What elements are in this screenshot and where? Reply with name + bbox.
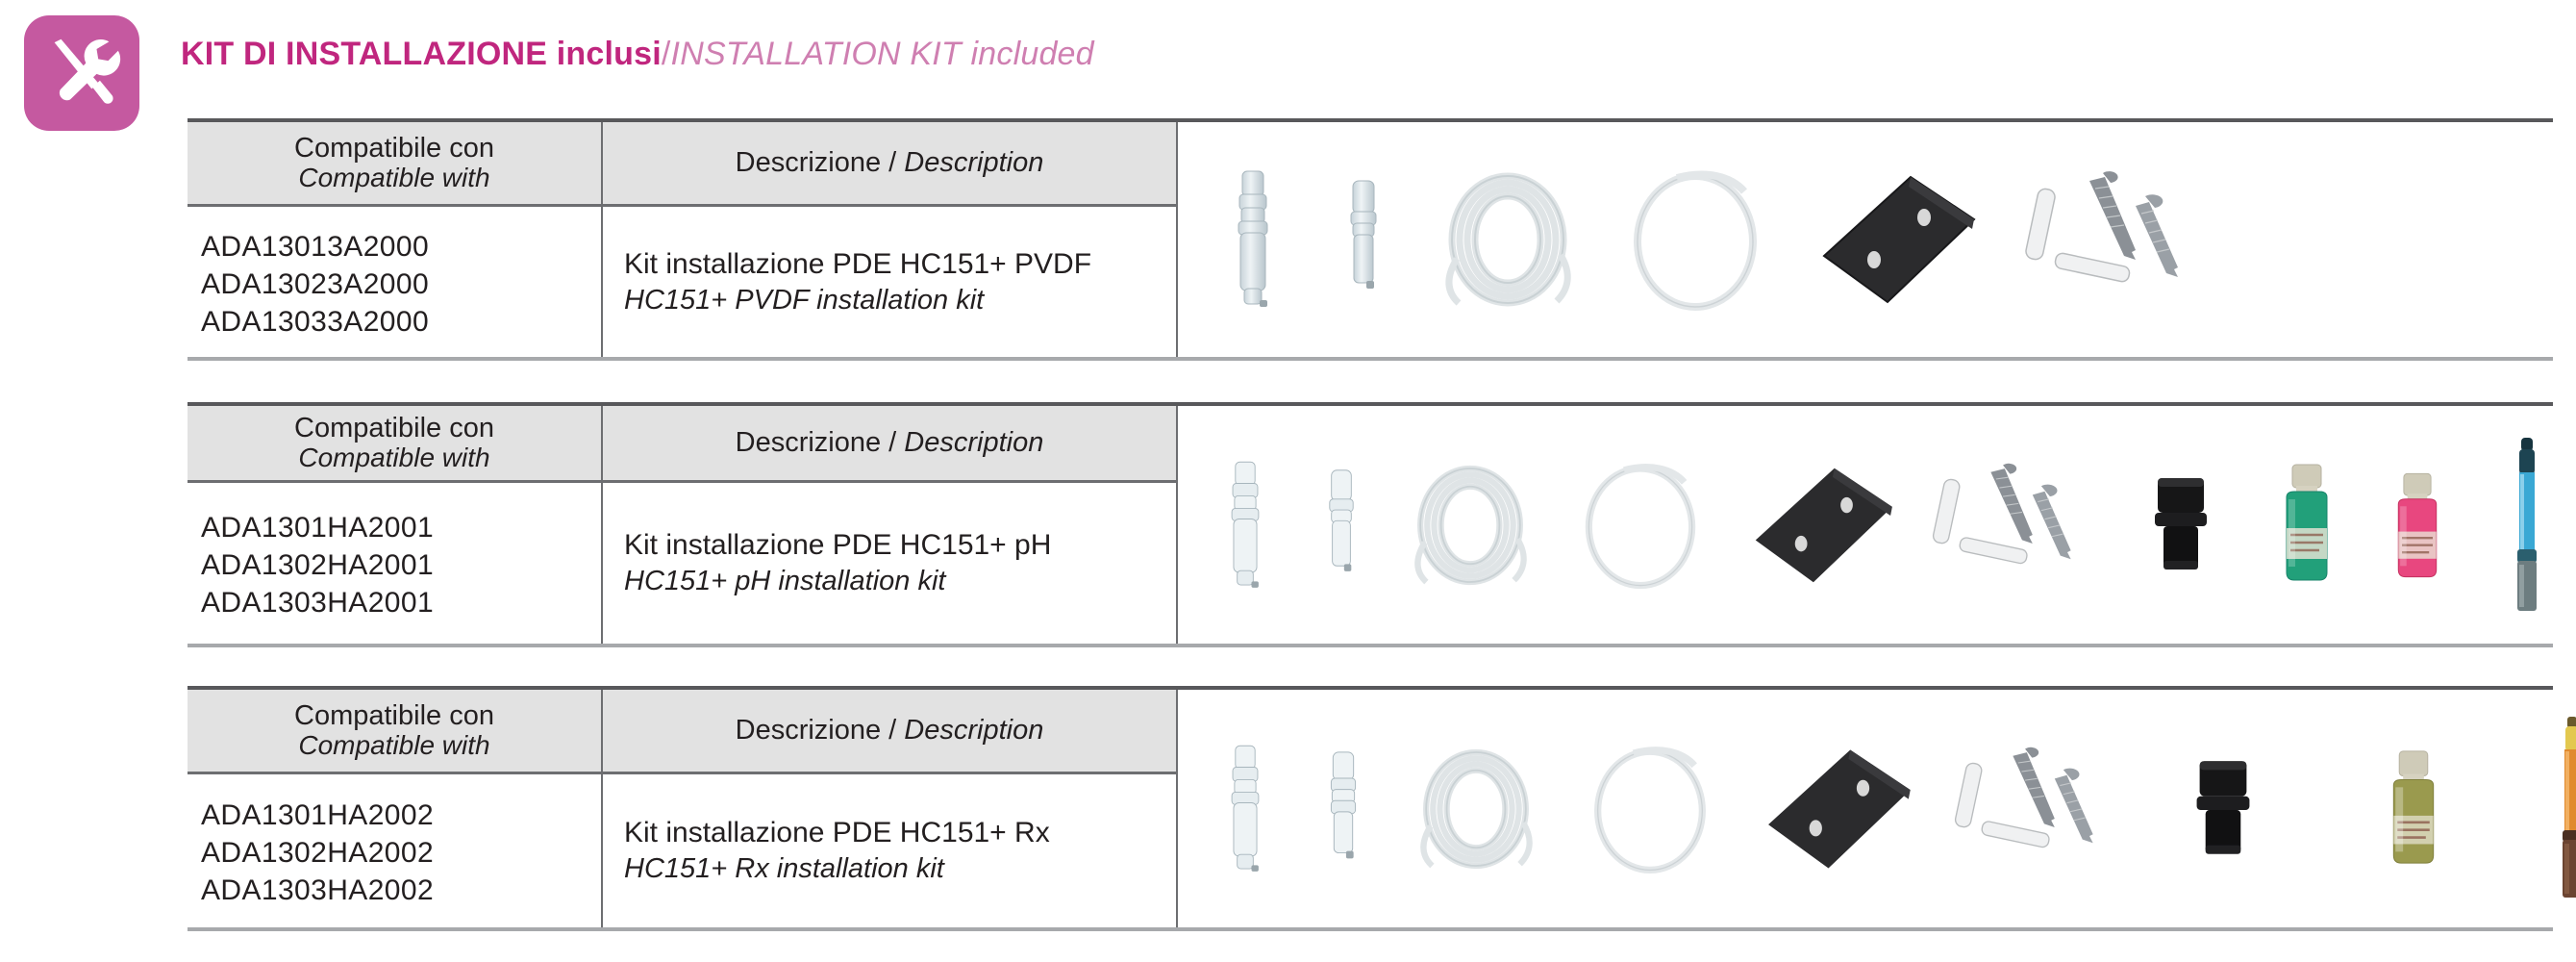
ph-electrode-blue-image [2474,436,2576,615]
header-compatible-it: Compatibile con [294,414,494,443]
table-row: Compatibile con Compatible with ADA1301H… [188,406,2553,644]
column-header-compatible: Compatibile con Compatible with [188,690,601,774]
injection-valve-image [1295,748,1391,870]
description-it: Kit installazione PDE HC151+ pH [624,526,1176,564]
column-header-compatible: Compatibile con Compatible with [188,406,601,483]
header-description: Descrizione / Description [736,427,1044,459]
section-title: KIT DI INSTALLAZIONE inclusi/INSTALLATIO… [181,37,1094,72]
description-block: Kit installazione PDE HC151+ pH HC151+ p… [603,526,1176,600]
probe-holder-image [2134,747,2313,871]
list-item: ADA13033A2000 [201,303,601,341]
header-compatible-it: Compatibile con [294,701,494,731]
header-description-separator: / [881,715,904,746]
list-item: ADA1302HA2002 [201,834,601,872]
description-en: HC151+ pH installation kit [624,564,1176,600]
tools-wrench-screwdriver-icon [24,15,139,131]
header-description-en: Description [904,427,1043,458]
header-description: Descrizione / Description [736,715,1044,747]
column-description: Descrizione / Description Kit installazi… [601,122,1178,357]
header-compatible-en: Compatible with [298,731,489,760]
column-description: Descrizione / Description Kit installazi… [601,406,1178,644]
suction-tube-coil-image [1416,163,1599,316]
code-list: ADA13013A2000 ADA13023A2000 ADA13033A200… [188,224,601,341]
column-compatible: Compatibile con Compatible with ADA1301H… [188,690,601,927]
description-it: Kit installazione PDE HC151+ PVDF [624,245,1176,283]
section-title-it-strong: KIT DI INSTALLAZIONE [181,36,547,72]
header-description: Descrizione / Description [736,147,1044,179]
discharge-tube-loop-image [1599,163,1791,316]
suction-tube-coil-image [1388,453,1553,597]
section-title-en: INSTALLATION KIT included [671,36,1094,72]
description-en: HC151+ PVDF installation kit [624,283,1176,319]
kit-table-rx: Compatibile con Compatible with ADA1301H… [188,686,2553,931]
column-description: Descrizione / Description Kit installazi… [601,690,1178,927]
injection-valve-image [1295,467,1388,584]
column-header-description: Descrizione / Description [603,122,1176,207]
cell-description: Kit installazione PDE HC151+ pH HC151+ p… [603,483,1176,644]
foot-valve-filter-image [1195,167,1311,312]
screws-and-anchors-image [1916,458,2109,593]
discharge-tube-loop-image [1561,737,1739,881]
list-item: ADA1303HA2002 [201,872,601,909]
kit-table-ph: Compatibile con Compatible with ADA1301H… [188,402,2553,647]
screws-and-anchors-image [1936,742,2134,876]
column-parts-images [1178,690,2553,927]
cell-codes: ADA1301HA2002 ADA1302HA2002 ADA1303HA200… [188,774,601,927]
header-description-separator: / [881,147,904,178]
wall-mount-bracket-image [1728,458,1916,593]
header-description-it: Descrizione [736,427,882,458]
parts-strip [1178,690,2553,927]
list-item: ADA1301HA2001 [201,509,601,546]
buffer-bottle-olive-image [2313,746,2514,873]
header-compatible-en: Compatible with [298,164,489,192]
code-list: ADA1301HA2001 ADA1302HA2001 ADA1303HA200… [188,505,601,621]
column-header-description: Descrizione / Description [603,406,1176,483]
description-block: Kit installazione PDE HC151+ PVDF HC151+… [603,245,1176,319]
screws-and-anchors-image [2003,167,2224,312]
foot-valve-filter-image [1195,458,1295,593]
column-compatible: Compatibile con Compatible with ADA13013… [188,122,601,357]
section-header: KIT DI INSTALLAZIONE inclusi/INSTALLATIO… [0,0,2576,115]
kit-table-pvdf: Compatibile con Compatible with ADA13013… [188,118,2553,361]
discharge-tube-loop-image [1553,453,1728,597]
code-list: ADA1301HA2002 ADA1302HA2002 ADA1303HA200… [188,793,601,909]
rx-electrode-orange-image [2514,715,2576,903]
wall-mount-bracket-image [1791,167,2003,312]
list-item: ADA1302HA2001 [201,546,601,584]
column-compatible: Compatibile con Compatible with ADA1301H… [188,406,601,644]
parts-strip [1178,122,2553,357]
header-description-en: Description [904,715,1043,746]
foot-valve-filter-image [1195,742,1295,876]
parts-strip [1178,406,2553,644]
list-item: ADA13013A2000 [201,228,601,266]
cell-description: Kit installazione PDE HC151+ Rx HC151+ R… [603,774,1176,927]
list-item: ADA13023A2000 [201,266,601,303]
cell-description: Kit installazione PDE HC151+ PVDF HC151+… [603,207,1176,357]
list-item: ADA1303HA2001 [201,584,601,621]
table-row: Compatibile con Compatible with ADA1301H… [188,690,2553,927]
probe-holder-image [2109,465,2253,586]
header-description-en: Description [904,147,1043,178]
column-header-compatible: Compatibile con Compatible with [188,122,601,207]
section-title-separator: / [662,36,671,72]
table-row: Compatibile con Compatible with ADA13013… [188,122,2553,357]
buffer-bottle-green-image [2253,461,2361,590]
column-header-description: Descrizione / Description [603,690,1176,774]
buffer-bottle-pink-image [2361,465,2474,586]
description-it: Kit installazione PDE HC151+ Rx [624,814,1176,851]
description-block: Kit installazione PDE HC151+ Rx HC151+ R… [603,814,1176,888]
section-title-it-word: inclusi [557,36,662,72]
column-parts-images [1178,406,2553,644]
column-parts-images [1178,122,2553,357]
cell-codes: ADA13013A2000 ADA13023A2000 ADA13033A200… [188,207,601,357]
wall-mount-bracket-image [1739,741,1936,877]
header-compatible-it: Compatibile con [294,134,494,164]
injection-valve-image [1311,177,1416,302]
suction-tube-coil-image [1391,737,1561,881]
header-description-it: Descrizione [736,147,882,178]
cell-codes: ADA1301HA2001 ADA1302HA2001 ADA1303HA200… [188,483,601,644]
description-en: HC151+ Rx installation kit [624,851,1176,888]
header-description-separator: / [881,427,904,458]
header-compatible-en: Compatible with [298,443,489,472]
header-description-it: Descrizione [736,715,882,746]
list-item: ADA1301HA2002 [201,797,601,834]
